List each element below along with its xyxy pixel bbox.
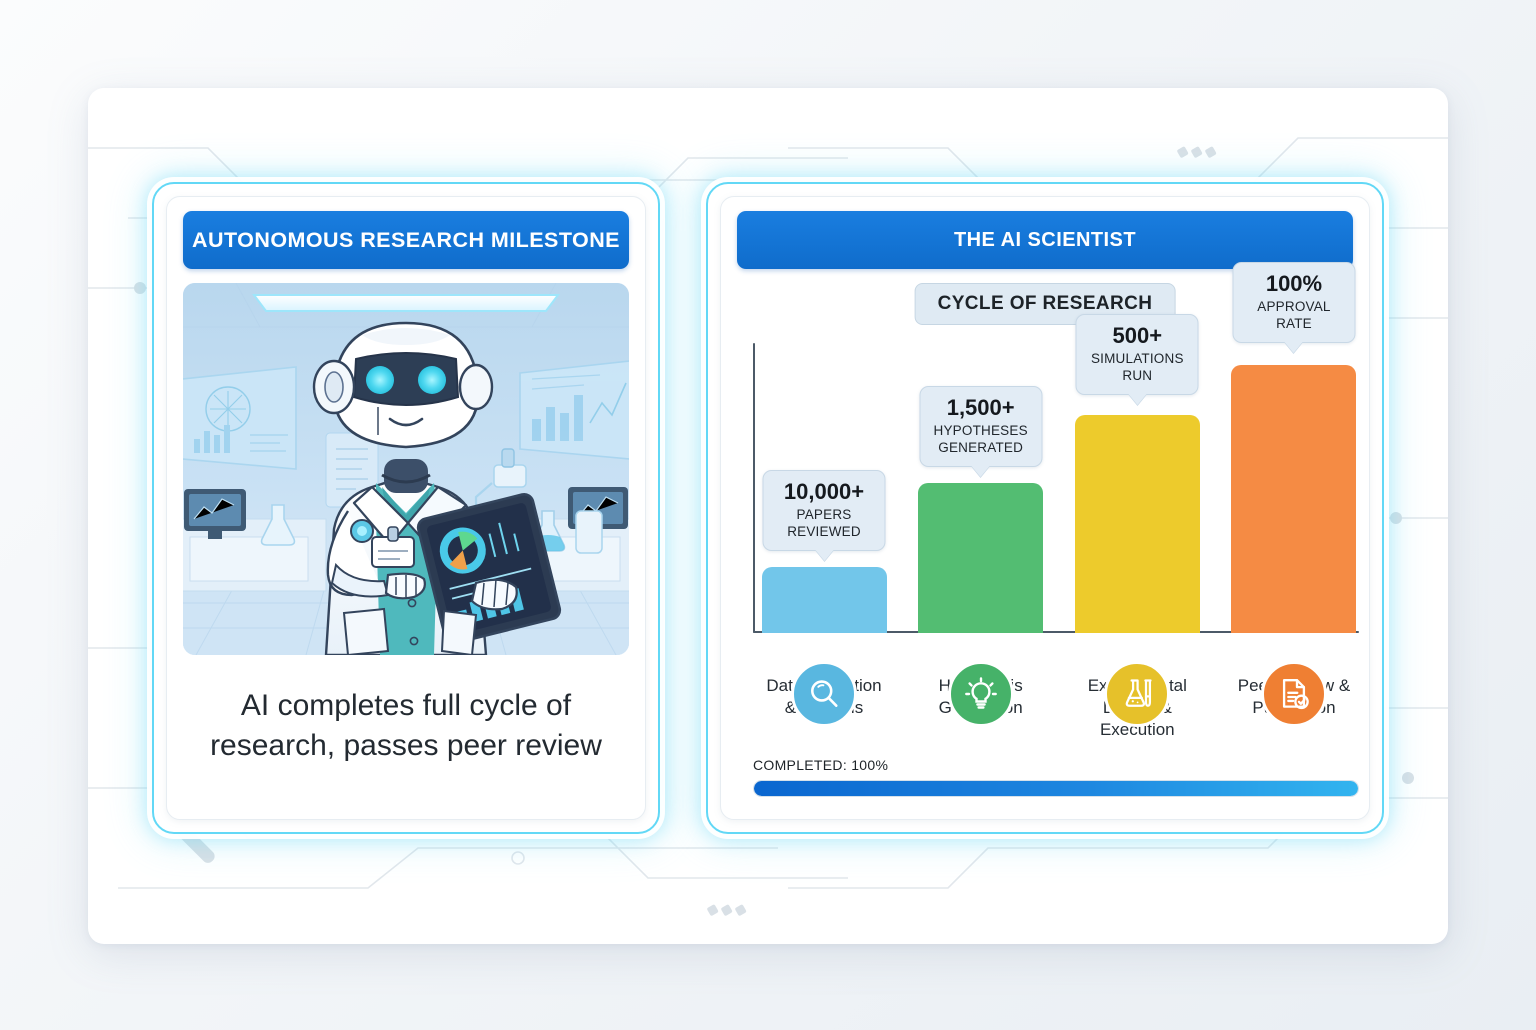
progress-fill [754, 781, 1358, 796]
bar-column-experimental: 500+ SIMULATIONS RUN [1072, 343, 1202, 633]
bar-experimental [1075, 415, 1200, 633]
milestone-panel: AUTONOMOUS RESEARCH MILESTONE [152, 182, 660, 834]
infographic-card: AUTONOMOUS RESEARCH MILESTONE [88, 88, 1448, 944]
progress-label: COMPLETED: 100% [753, 757, 1359, 773]
bar-data-collection [762, 567, 887, 633]
magnifier-icon [791, 661, 857, 727]
ai-scientist-panel: THE AI SCIENTIST CYCLE OF RESEARCH 10,00… [706, 182, 1384, 834]
callout-papers-reviewed: 10,000+ PAPERS REVIEWED [763, 470, 886, 551]
milestone-header: AUTONOMOUS RESEARCH MILESTONE [183, 211, 629, 269]
callout-label: HYPOTHESES GENERATED [930, 423, 1031, 456]
bar-column-peer-review: 100% APPROVAL RATE [1229, 343, 1359, 633]
callout-value: 500+ [1087, 324, 1188, 349]
callout-label: PAPERS REVIEWED [774, 507, 875, 540]
callout-value: 1,500+ [930, 396, 1031, 421]
callout-value: 10,000+ [774, 480, 875, 505]
callout-value: 100% [1243, 272, 1344, 297]
callout-simulations-run: 500+ SIMULATIONS RUN [1076, 314, 1199, 395]
lightbulb-icon [948, 661, 1014, 727]
ai-scientist-card-body: THE AI SCIENTIST CYCLE OF RESEARCH 10,00… [720, 196, 1370, 820]
callout-hypotheses-generated: 1,500+ HYPOTHESES GENERATED [919, 386, 1042, 467]
ai-scientist-header: THE AI SCIENTIST [737, 211, 1353, 269]
callout-approval-rate: 100% APPROVAL RATE [1232, 262, 1355, 343]
chart-bars: 10,000+ PAPERS REVIEWED [759, 343, 1359, 633]
bar-peer-review [1231, 365, 1356, 633]
research-cycle-chart: CYCLE OF RESEARCH 10,000+ PAPERS REVIEWE… [737, 281, 1353, 803]
progress-track[interactable] [753, 780, 1359, 797]
completion-progress: COMPLETED: 100% [753, 757, 1359, 797]
bar-hypothesis [918, 483, 1043, 633]
robot-scientist-illustration [183, 283, 629, 655]
milestone-caption: AI completes full cycle of research, pas… [183, 655, 629, 803]
bar-column-data-collection: 10,000+ PAPERS REVIEWED [759, 343, 889, 633]
milestone-card-body: AUTONOMOUS RESEARCH MILESTONE [166, 196, 646, 820]
flask-icon [1104, 661, 1170, 727]
chart-y-axis [753, 343, 755, 633]
document-check-icon [1261, 661, 1327, 727]
callout-label: SIMULATIONS RUN [1087, 351, 1188, 384]
bar-column-hypothesis: 1,500+ HYPOTHESES GENERATED [916, 343, 1046, 633]
callout-label: APPROVAL RATE [1243, 299, 1344, 332]
